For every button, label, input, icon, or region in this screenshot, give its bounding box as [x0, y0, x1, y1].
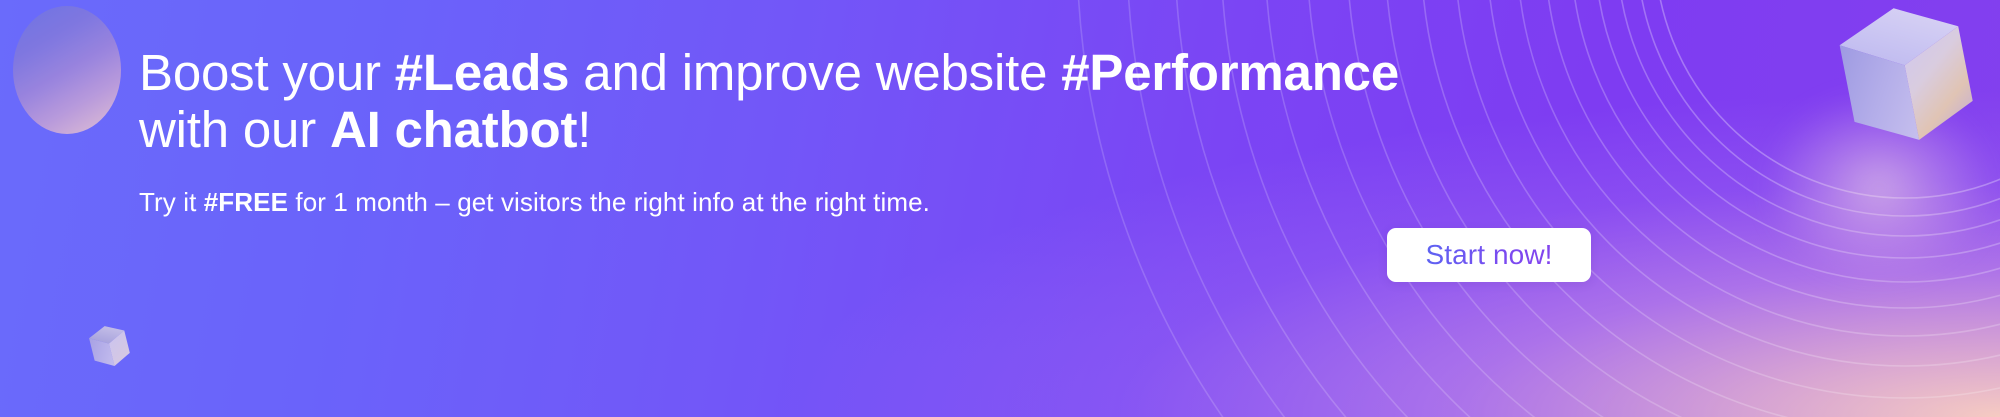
headline-line-2: with our AI chatbot! — [139, 101, 591, 158]
headline-text-1: Boost your — [139, 44, 395, 101]
start-now-button[interactable]: Start now! — [1387, 228, 1591, 282]
headline-line-1: Boost your #Leads and improve website #P… — [139, 44, 1399, 101]
headline-text-2: and improve website — [569, 44, 1061, 101]
start-now-button-label: Start now! — [1425, 239, 1552, 271]
gradient-sphere-decoration — [13, 6, 121, 134]
headline-highlight-leads: #Leads — [395, 44, 570, 101]
banner-content: Boost your #Leads and improve website #P… — [139, 0, 2000, 417]
subtitle-text-1: Try it — [139, 187, 204, 217]
cube-3d-small-icon — [78, 318, 138, 378]
headline-text-3: with our — [139, 101, 330, 158]
banner-headline: Boost your #Leads and improve website #P… — [139, 44, 1399, 158]
promo-banner: Boost your #Leads and improve website #P… — [0, 0, 2000, 417]
subtitle-text-2: for 1 month – get visitors the right inf… — [288, 187, 930, 217]
headline-highlight-performance: #Performance — [1061, 44, 1399, 101]
headline-highlight-ai-chatbot: AI chatbot — [330, 101, 577, 158]
subtitle-highlight-free: #FREE — [204, 187, 288, 217]
banner-subtitle: Try it #FREE for 1 month – get visitors … — [139, 185, 930, 219]
headline-text-4: ! — [577, 101, 591, 158]
